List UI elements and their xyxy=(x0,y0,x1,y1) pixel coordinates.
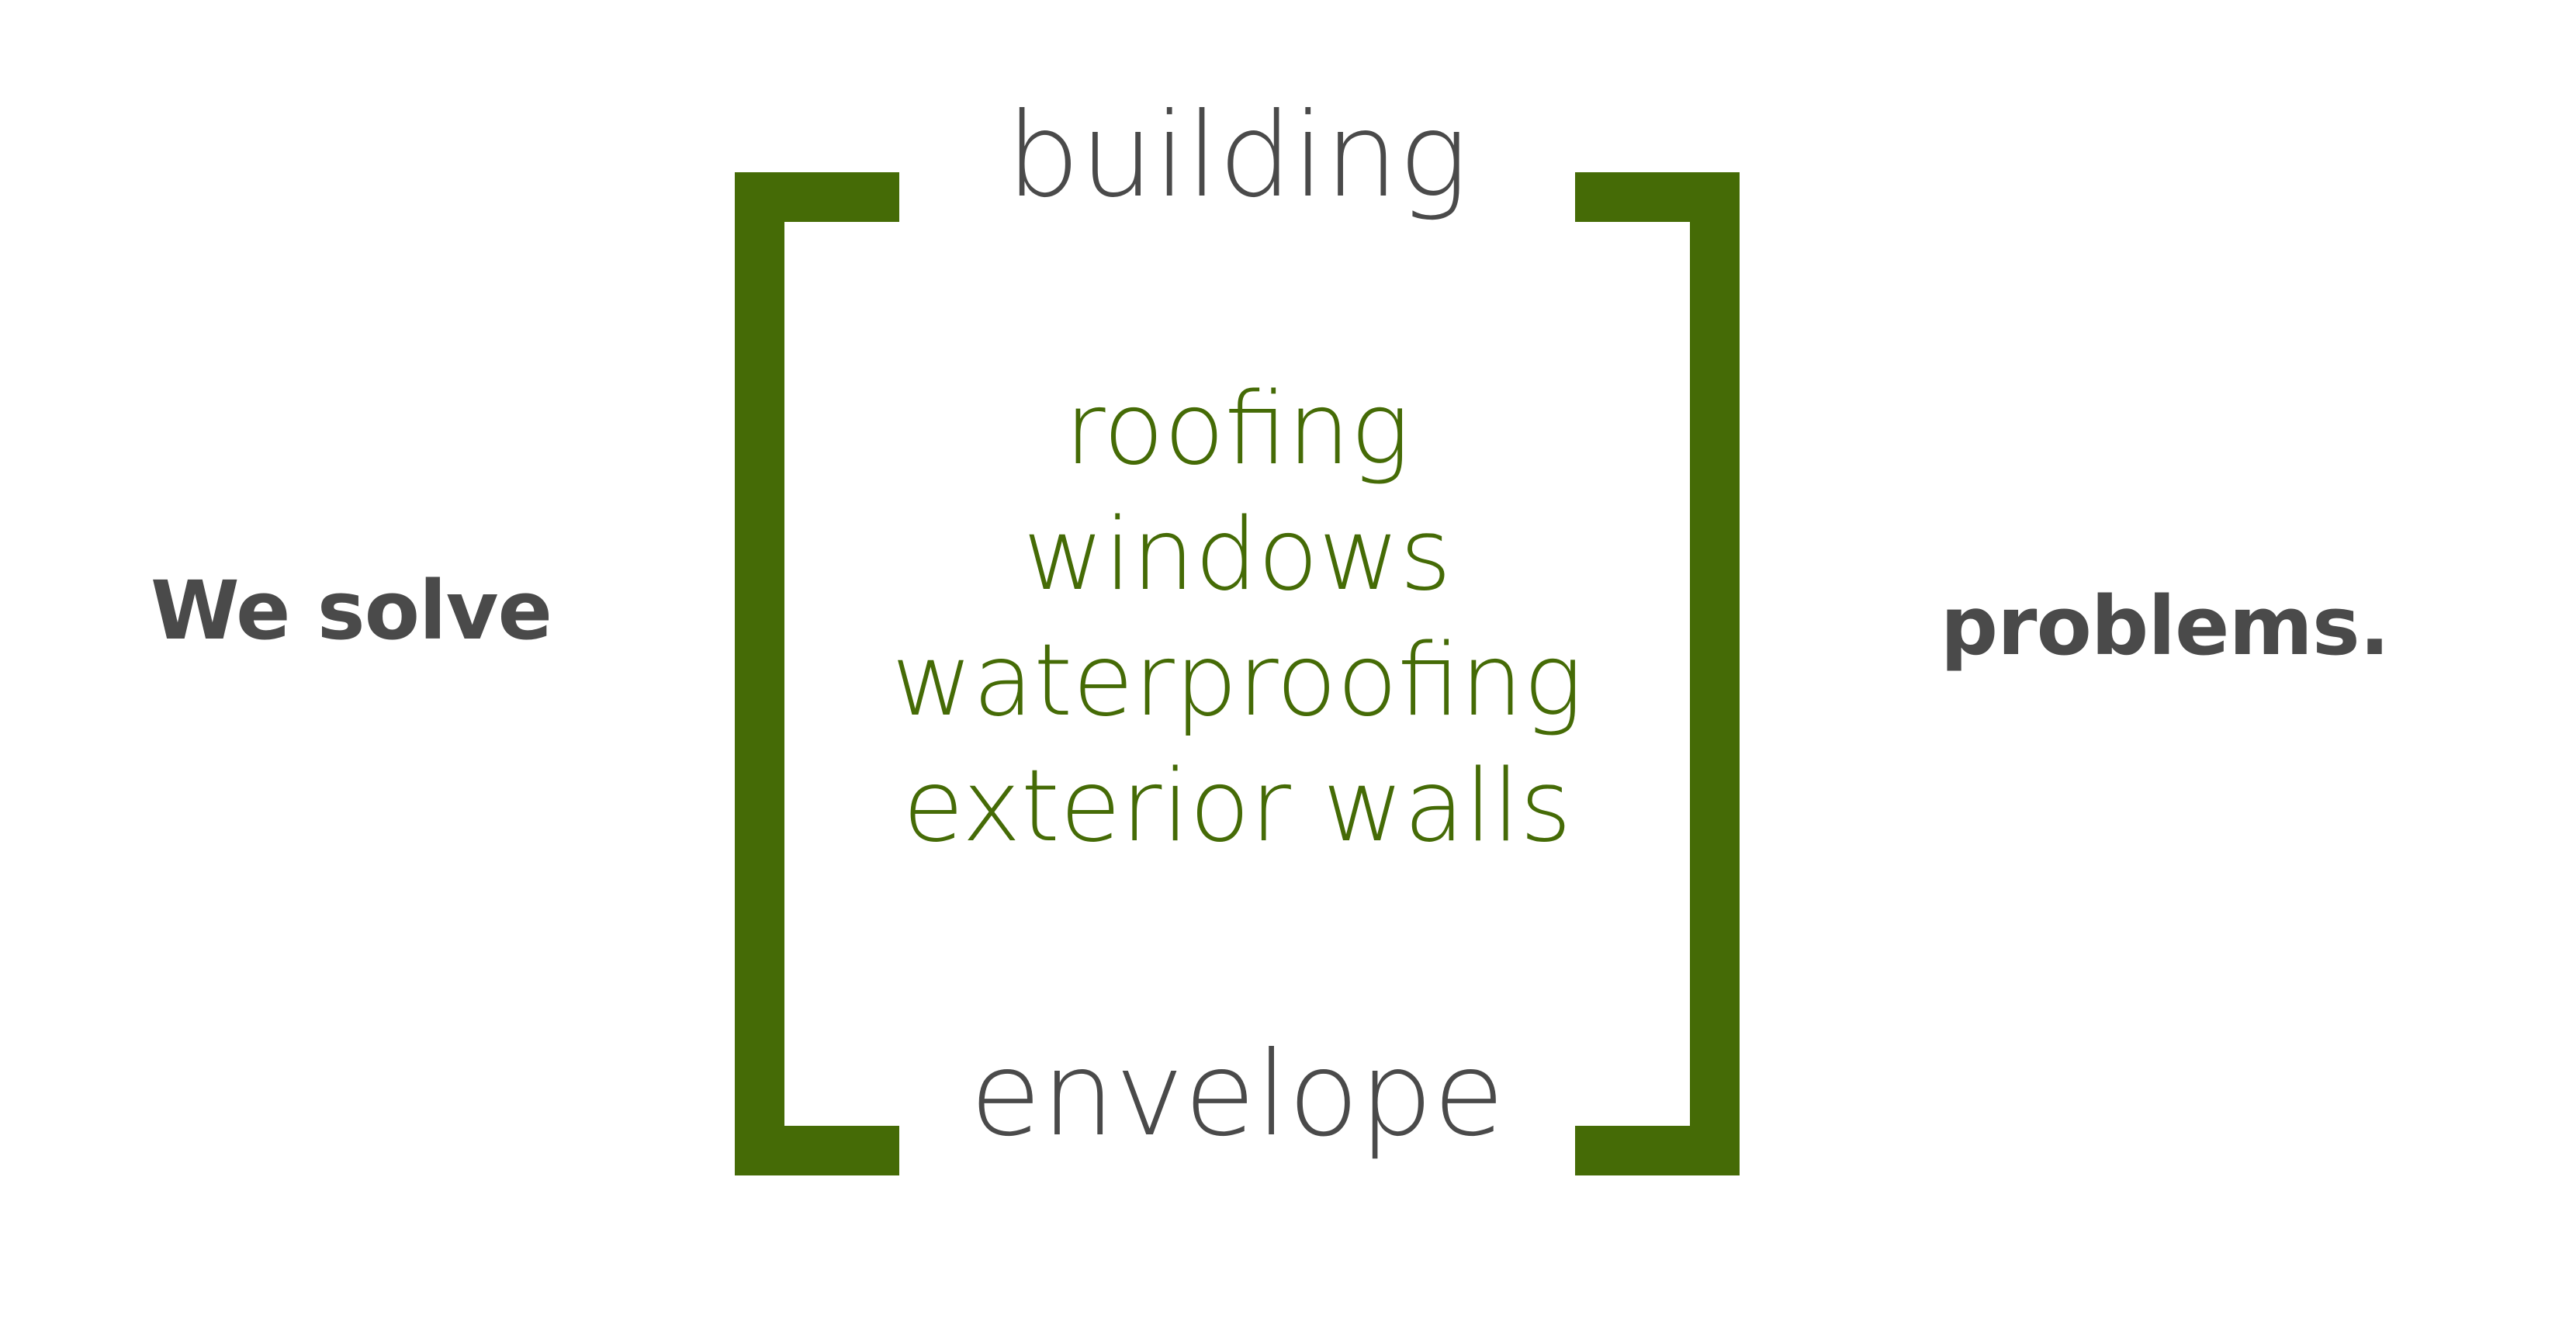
bracket-left-icon xyxy=(735,172,899,1175)
bracket-right-icon xyxy=(1575,172,1740,1175)
slide-canvas: We solve building roofing windows waterp… xyxy=(0,0,2576,1319)
tagline-suffix: problems. xyxy=(1862,586,2467,666)
bracket-frame xyxy=(735,172,1740,1175)
tagline-prefix: We solve xyxy=(0,570,702,651)
